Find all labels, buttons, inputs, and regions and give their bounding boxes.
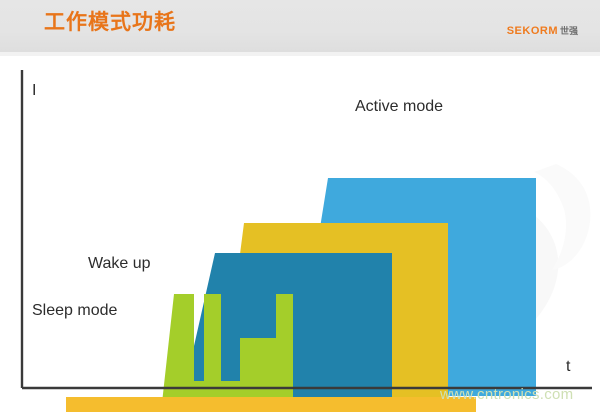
sleep-mode-baseline-bands	[50, 397, 476, 412]
annotation-active-mode: Active mode	[355, 98, 443, 116]
power-mode-chart	[0, 56, 600, 412]
site-watermark: www.cntronics.com	[440, 386, 573, 403]
slide-canvas: 工作模式功耗 SEKORM 世强	[0, 0, 600, 412]
brand-logo: SEKORM 世强	[507, 24, 578, 37]
sleep-band-yellow	[66, 397, 470, 412]
x-axis-label: t	[566, 358, 570, 376]
annotation-sleep-mode: Sleep mode	[32, 302, 117, 320]
brand-logo-latin: SEKORM	[507, 25, 558, 37]
brand-logo-cjk: 世强	[560, 24, 578, 37]
chart-area: I t Active mode Wake up Sleep mode www.c…	[0, 56, 600, 412]
y-axis-label: I	[32, 82, 36, 100]
slide-header: 工作模式功耗 SEKORM 世强	[0, 0, 600, 52]
annotation-wake-up: Wake up	[88, 255, 151, 273]
page-title: 工作模式功耗	[44, 9, 176, 37]
